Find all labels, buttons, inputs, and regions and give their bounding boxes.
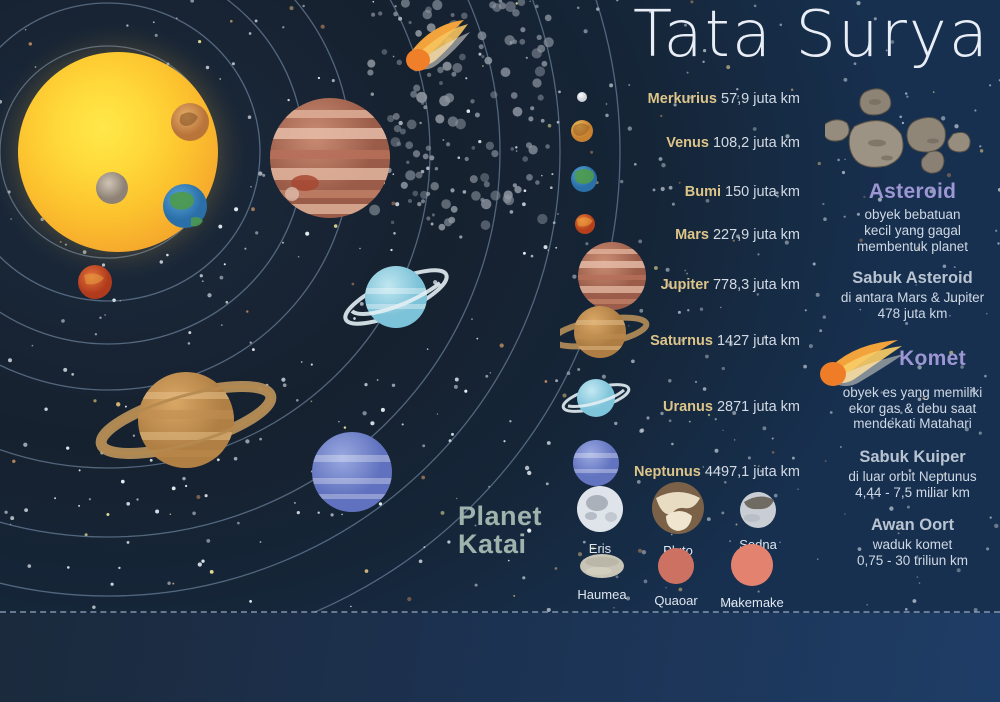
planet-row-merkurius: Merkurius 57,9 juta km <box>560 90 800 108</box>
dwarf-planet-eris: Eris <box>562 484 638 556</box>
asteroid-body: obyek bebatuankecil yang gagalmembentuk … <box>825 207 1000 255</box>
planet-distance: 57,9 juta km <box>717 91 800 107</box>
dwarf-planet-label: Haumea <box>564 587 640 602</box>
komet-body: obyek es yang memilikiekor gas & debu sa… <box>825 385 1000 433</box>
sabuk-asteroid-body: di antara Mars & Jupiter478 juta km <box>825 290 1000 322</box>
planet-name: Venus <box>666 135 709 151</box>
makemake-icon <box>729 542 775 588</box>
eris-icon <box>575 484 625 534</box>
komet-heading: Komet <box>865 347 1000 371</box>
planet-distance: 4497,1 juta km <box>701 464 800 480</box>
planet-name: Mars <box>675 227 709 243</box>
pluto-icon <box>650 480 706 536</box>
planet-name: Merkurius <box>648 91 717 107</box>
dwarf-planet-label: Quaoar <box>638 593 714 608</box>
planet-row-venus: Venus 108,2 juta km <box>560 134 800 152</box>
planet-name: Bumi <box>685 184 721 200</box>
planet-distance: 108,2 juta km <box>709 135 800 151</box>
planet-distance: 2871 juta km <box>713 399 800 415</box>
asteroid-cluster-graphic <box>825 86 1000 178</box>
dwarf-planets-section: PlanetKatai Eris Pluto <box>440 480 800 608</box>
planet-name: Neptunus <box>634 464 701 480</box>
planet-name: Uranus <box>663 399 713 415</box>
dwarf-planets-title: PlanetKatai <box>458 502 578 559</box>
page-title: Tata Surya <box>560 2 990 69</box>
sedna-icon <box>738 490 778 530</box>
planet-row-uranus: Uranus 2871 juta km <box>560 398 800 416</box>
asteroid-heading: Asteroid <box>825 180 1000 204</box>
planet-row-neptunus: Neptunus 4497,1 juta km <box>560 463 800 481</box>
dwarf-planet-haumea: Haumea <box>564 552 640 602</box>
sun-graphic <box>18 52 218 252</box>
haumea-icon <box>579 552 625 580</box>
comet-graphic <box>406 20 470 71</box>
info-column: Asteroid obyek bebatuankecil yang gagalm… <box>825 86 1000 569</box>
planet-name: Jupiter <box>661 277 709 293</box>
planet-row-jupiter: Jupiter 778,3 juta km <box>560 276 800 294</box>
dwarf-planet-quaoar: Quaoar <box>638 546 714 608</box>
planet-row-mars: Mars 227,9 juta km <box>560 226 800 244</box>
dwarf-planet-makemake: Makemake <box>714 542 790 610</box>
planet-row-bumi: Bumi 150 juta km <box>560 183 800 201</box>
planet-distance: 227,9 juta km <box>709 227 800 243</box>
planet-name: Saturnus <box>650 333 713 349</box>
planet-row-saturnus: Saturnus 1427 juta km <box>560 332 800 350</box>
sabuk-asteroid-heading: Sabuk Asteroid <box>825 269 1000 288</box>
planet-distance: 150 juta km <box>721 184 800 200</box>
planet-distance: 778,3 juta km <box>709 277 800 293</box>
sabuk-kuiper-body: di luar orbit Neptunus4,44 - 7,5 miliar … <box>825 469 1000 501</box>
quaoar-icon <box>656 546 696 586</box>
awan-oort-body: waduk komet0,75 - 30 triliun km <box>825 537 1000 569</box>
infographic-poster: Tata Surya <box>0 0 1000 702</box>
footer: LANGITSELATAN ASTRO 101 langitselatan in… <box>0 613 1000 702</box>
planet-distance: 1427 juta km <box>713 333 800 349</box>
awan-oort-heading: Awan Oort <box>825 516 1000 535</box>
sabuk-kuiper-heading: Sabuk Kuiper <box>825 448 1000 467</box>
dwarf-planet-label: Makemake <box>714 595 790 610</box>
